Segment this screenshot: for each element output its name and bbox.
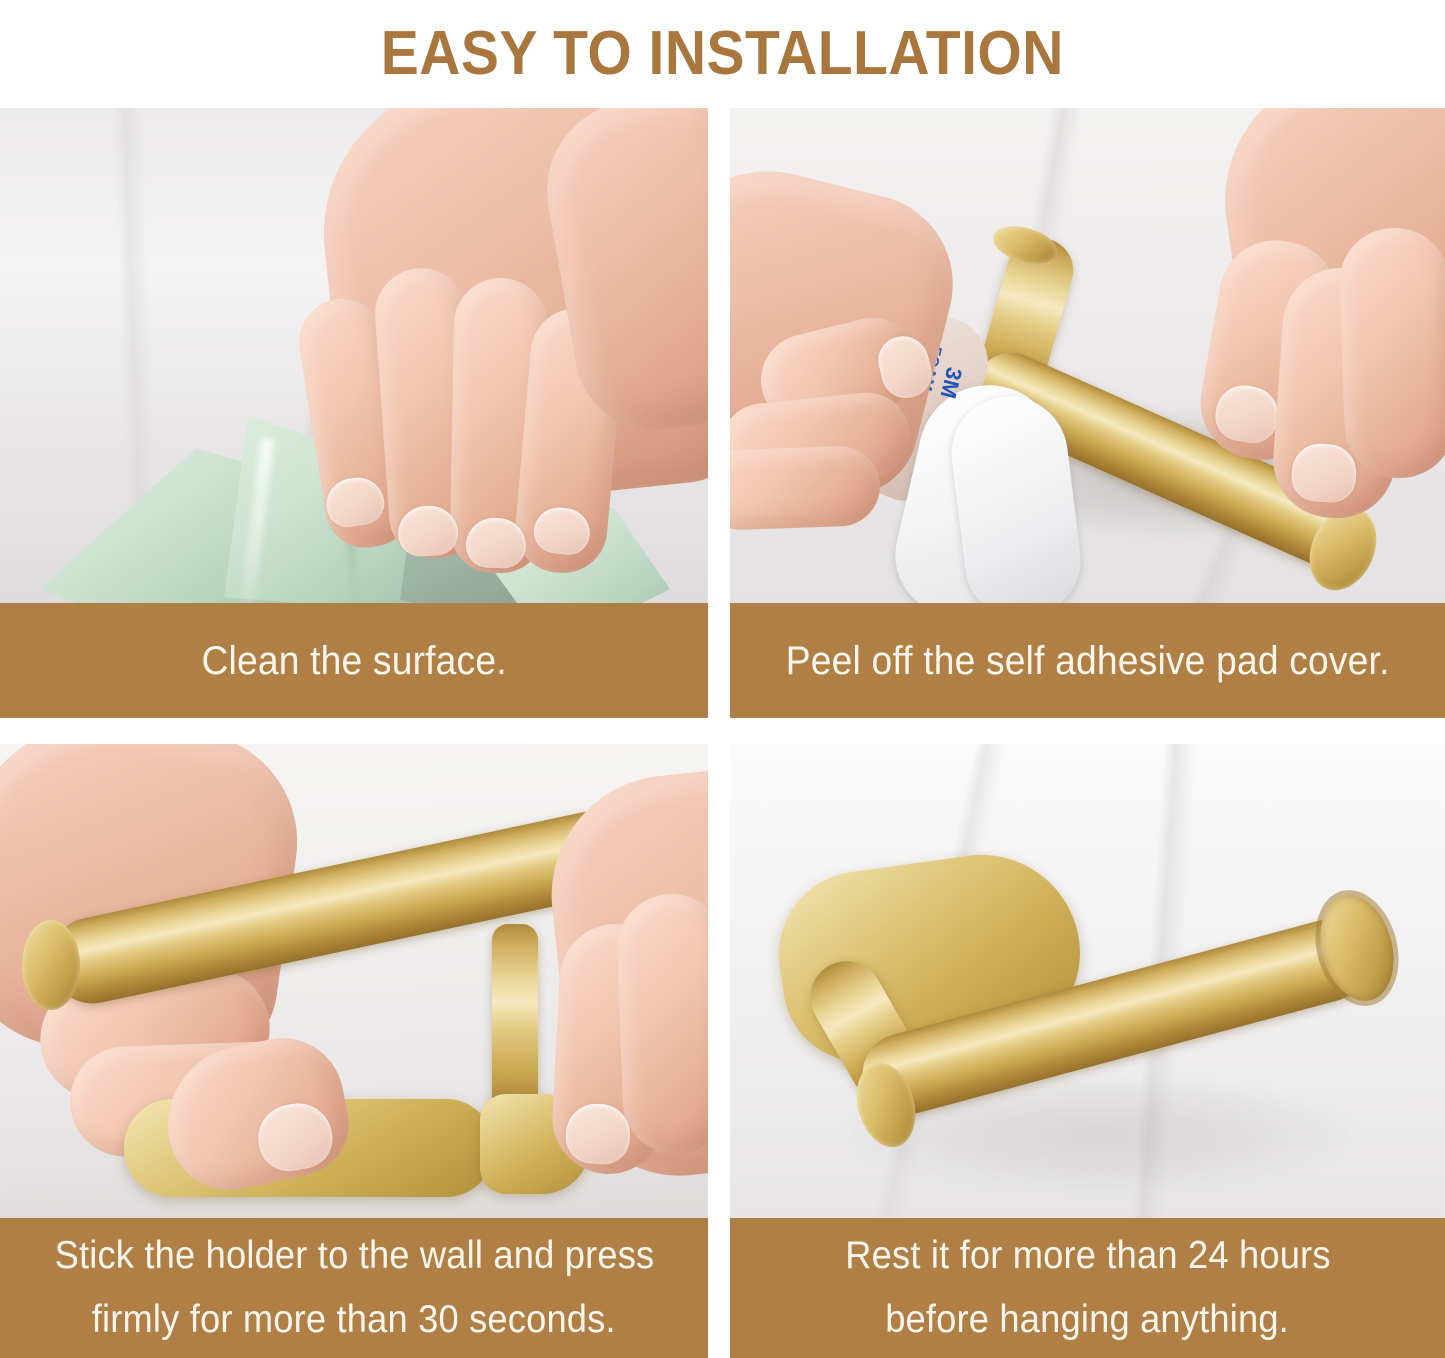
step-card-4: Rest it for more than 24 hours before ha… [730,744,1445,1358]
step-card-2: 3M FOAM 3M [730,108,1445,718]
step-4-photo [730,744,1445,1218]
caption-line: Stick the holder to the wall and press [54,1224,654,1288]
caption-line: firmly for more than 30 seconds. [92,1288,616,1352]
caption-line: Peel off the self adhesive pad cover. [786,632,1390,690]
caption-line: before hanging anything. [886,1288,1290,1352]
gold-rod-end-cap [22,920,80,1010]
step-4-caption: Rest it for more than 24 hours before ha… [730,1218,1445,1358]
step-3-photo [0,744,708,1218]
header-banner: EASY TO INSTALLATION [0,0,1445,108]
page-title: EASY TO INSTALLATION [381,23,1064,85]
step-3-caption: Stick the holder to the wall and press f… [0,1218,708,1358]
step-1-photo [0,108,708,603]
installation-steps-grid: Clean the surface. [0,108,1445,1358]
step-1-caption: Clean the surface. [0,603,708,718]
row-gutter [0,718,1445,744]
step-2-photo: 3M FOAM 3M [730,108,1445,603]
step-card-3: Stick the holder to the wall and press f… [0,744,708,1358]
caption-line: Rest it for more than 24 hours [845,1224,1330,1288]
step-2-caption: Peel off the self adhesive pad cover. [730,603,1445,718]
caption-line: Clean the surface. [201,632,506,690]
step-card-1: Clean the surface. [0,108,708,718]
